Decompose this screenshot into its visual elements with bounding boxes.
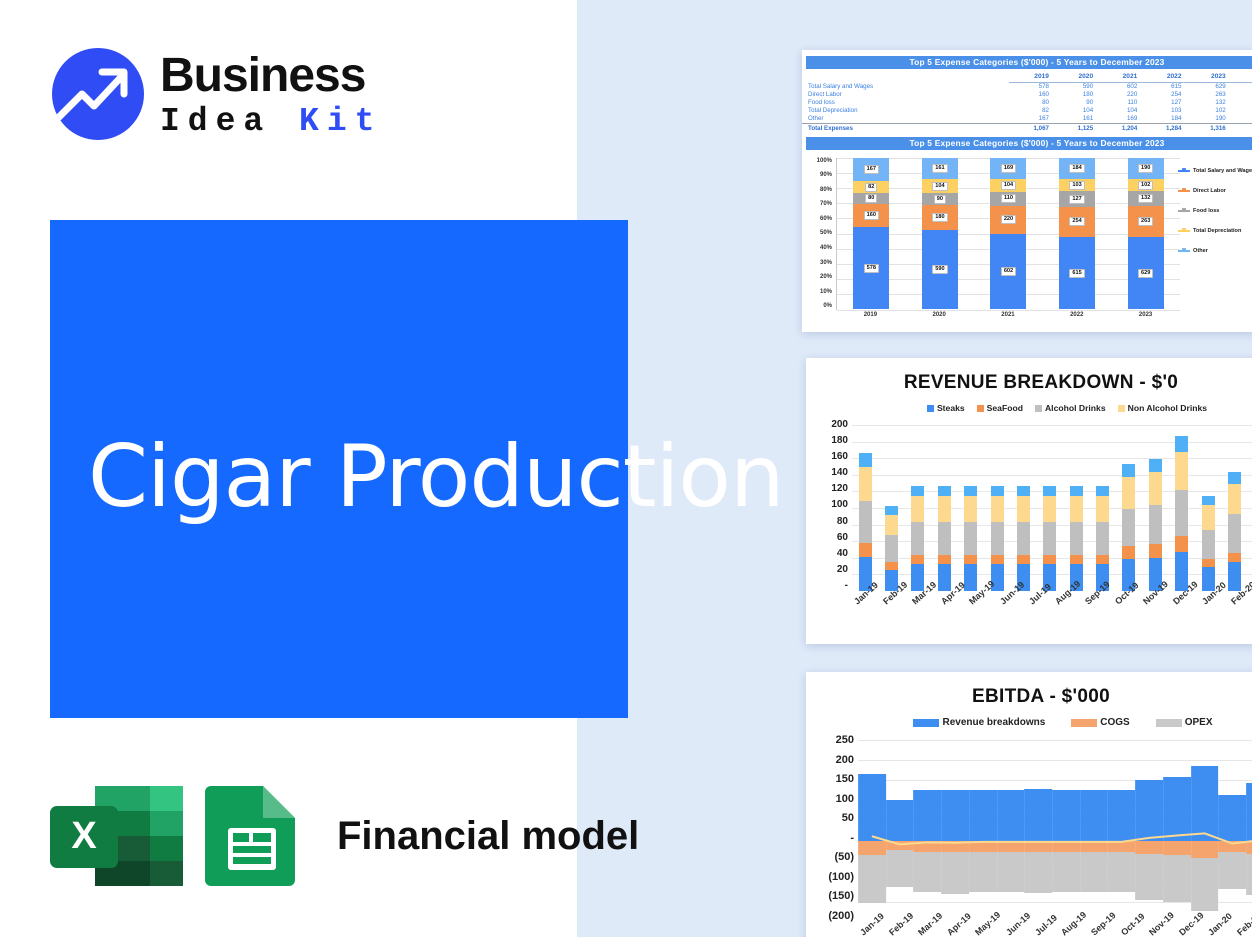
legend-label: Food loss [1193,208,1219,214]
percent-stacked-chart: 100%90%80%70%60%50%40%30%20%10%0% 167828… [802,154,1252,329]
bar-segment [938,522,951,554]
brand-line-2: Idea Kit [160,105,382,138]
bar-segment: 629 [1128,237,1164,310]
bar-segment [859,453,872,467]
bar-segment [964,496,977,523]
bar-segment [991,522,1004,554]
y-tick: 180 [806,435,848,446]
brand-logo: Business Idea Kit [52,48,382,140]
y-tick: 40% [806,245,832,251]
bar-segment: 578 [853,227,889,309]
bar-column [878,425,904,591]
bar-segment [1070,496,1083,523]
bar-segment [991,496,1004,523]
bar-value-label: 110 [1001,194,1016,203]
y-tick: 40 [806,548,848,559]
bar-value-label: 263 [1138,217,1153,226]
ebitda-y-axis: 25020015010050-(50)(100)(150)(200) [806,734,854,922]
bar-segment [1017,555,1030,565]
bar-value-label: 104 [932,182,947,191]
bar-column [1037,425,1063,591]
bar-segment [938,486,951,496]
col-head-2023: 2023 [1185,73,1229,83]
legend-item: Other [1178,248,1252,254]
y-tick: (50) [806,851,854,863]
col-head-blank [802,73,1009,83]
revenue-plot-wrap: 20018016014012010080604020- Jan-19Feb-19… [806,419,1252,644]
y-tick: 20 [806,564,848,575]
revenue-chart-title: REVENUE BREAKDOWN - $'0 [806,372,1252,394]
col-head-2019: 2019 [1009,73,1053,83]
microsoft-excel-icon: X [50,786,183,886]
bar-segment: 132 [1128,191,1164,206]
stacked-bar: 169104110220602 [990,158,1026,310]
bar-column [852,425,878,591]
brand-kit: Kit [299,103,382,140]
bar-segment [1070,555,1083,565]
bar-segment [1228,514,1241,553]
bar-segment [859,467,872,501]
bar-segment: 102 [1128,179,1164,191]
legend-label: Non Alcohol Drinks [1128,403,1207,413]
bar-segment [1202,530,1215,559]
legend-item: SeaFood [977,403,1023,413]
bar-segment [1149,505,1162,544]
revenue-plot [852,425,1252,591]
bar-segment [1096,496,1109,523]
bar-segment [1096,486,1109,496]
legend-item: Total Salary and Wages [1178,168,1252,174]
bar-segment: 263 [1128,206,1164,236]
bar-segment: 110 [990,192,1026,206]
table-row: Direct Labor160180220254263 [802,91,1252,99]
bar-segment: 615 [1059,237,1095,310]
bar-segment [885,515,898,536]
x-tick: 2019 [852,312,888,324]
bar-segment [1043,522,1056,554]
brand-idea: Idea [160,103,299,140]
bar-segment [1122,546,1135,559]
bar-segment [1043,496,1056,523]
y-tick: 80 [806,516,848,527]
table-total-row: Total Expenses1,0671,1251,2041,2841,316 [802,123,1252,132]
x-tick: 2022 [1059,312,1095,324]
bar-segment [1202,505,1215,530]
x-tick: 2023 [1128,312,1164,324]
bar-segment [885,562,898,570]
legend-label: Total Depreciation [1193,228,1241,234]
bar-segment [1149,544,1162,558]
stacked-bar: 190102132263629 [1128,158,1164,310]
bar-segment [1149,459,1162,471]
bar-segment: 169 [990,158,1026,179]
bar-value-label: 602 [1001,267,1016,276]
bar-segment [991,486,1004,496]
footer-row: X Financial model [50,786,639,886]
percent-chart-plot: 1678280160578161104901805901691041102206… [836,158,1180,310]
ebitda-x-axis: Jan-19Feb-19Mar-19Apr-19May-19Jun-19Jul-… [858,930,1252,937]
bar-segment [1175,490,1188,536]
bar-segment: 161 [922,158,958,180]
bar-column [1169,425,1195,591]
table-row: Total Depreciation82104104103102 [802,107,1252,115]
legend-swatch [1035,405,1042,412]
bar-segment [938,564,951,591]
bar-segment: 602 [990,234,1026,310]
percent-chart-x-axis: 20192020202120222023 [836,312,1180,324]
expenses-table: 2019 2020 2021 2022 2023 Total Salary an… [802,73,1252,132]
bar-column [905,425,931,591]
legend-swatch [1178,190,1190,192]
bar-column [1248,425,1252,591]
legend-item: Food loss [1178,208,1252,214]
x-tick: 2021 [990,312,1026,324]
legend-label: Alcohol Drinks [1045,403,1106,413]
bar-segment [1175,436,1188,452]
legend-label: Other [1193,248,1208,254]
bar-segment [859,501,872,543]
bar-segment: 160 [853,204,889,227]
col-head-overflow [1230,73,1252,83]
legend-label: COGS [1100,717,1129,728]
bar-segment [859,543,872,557]
bar-column [1010,425,1036,591]
y-tick: 140 [806,467,848,478]
bar-segment: 90 [922,193,958,205]
legend-item: OPEX [1156,717,1213,728]
legend-swatch [1178,170,1190,172]
bar-value-label: 80 [865,194,877,203]
ebitda-plot-wrap: 25020015010050-(50)(100)(150)(200) Jan-1… [806,734,1252,937]
percent-chart-bars: 1678280160578161104901805901691041102206… [837,158,1180,310]
bar-segment: 190 [1128,158,1164,180]
bar-segment: 127 [1059,191,1095,206]
legend-item: Steaks [927,403,965,413]
bar-segment [1202,559,1215,567]
bar-segment [964,486,977,496]
bar-value-label: 590 [932,265,947,274]
col-head-2022: 2022 [1141,73,1185,83]
footer-label: Financial model [337,814,639,859]
bar-segment [1122,509,1135,546]
y-tick: 60 [806,532,848,543]
y-tick: 10% [806,289,832,295]
revenue-x-axis: Jan-19Feb-19Mar-19Apr-19May-19Jun-19Jul-… [852,599,1252,609]
bar-value-label: 184 [1069,164,1084,173]
bar-value-label: 160 [864,211,879,220]
bar-column [1195,425,1221,591]
google-sheets-icon [205,786,301,886]
bar-segment: 82 [853,181,889,193]
bar-segment [1043,486,1056,496]
y-tick: - [806,580,848,591]
bar-segment [991,555,1004,565]
bar-segment [1228,553,1241,562]
legend-item: Direct Labor [1178,188,1252,194]
col-head-2021: 2021 [1097,73,1141,83]
percent-chart-legend: Total Salary and WagesDirect LaborFood l… [1178,168,1252,254]
table-row: Total Salary and Wages578590602615629 [802,83,1252,91]
bar-segment [1228,562,1241,591]
bar-segment [1122,464,1135,477]
bar-segment: 103 [1059,179,1095,191]
bar-segment: 590 [922,230,958,310]
brand-line-1: Business [160,52,382,100]
bar-value-label: 169 [1001,164,1016,173]
bar-segment [964,555,977,565]
legend-swatch [1178,210,1190,212]
bar-value-label: 90 [934,195,946,204]
col-head-2020: 2020 [1053,73,1097,83]
bar-column [1116,425,1142,591]
bar-segment: 167 [853,158,889,182]
bar-value-label: 161 [932,164,947,173]
bar-segment [1175,536,1188,552]
bar-segment [1122,477,1135,509]
y-tick: 30% [806,260,832,266]
bar-segment [1043,555,1056,565]
legend-swatch [913,719,939,727]
bar-segment [1202,496,1215,505]
y-tick: (100) [806,871,854,883]
bar-segment: 254 [1059,207,1095,237]
bar-segment [1070,522,1083,554]
revenue-y-axis: 20018016014012010080604020- [806,419,848,591]
bar-segment [911,522,924,554]
y-tick: 0% [806,303,832,309]
legend-item: Revenue breakdowns [913,717,1045,728]
bar-segment [964,522,977,554]
legend-item: Total Depreciation [1178,228,1252,234]
card-ebitda: EBITDA - $'000 Revenue breakdownsCOGSOPE… [806,672,1252,937]
bar-segment [911,555,924,565]
bar-segment [1175,452,1188,490]
table-header-row: 2019 2020 2021 2022 2023 [802,73,1252,83]
y-tick: 250 [806,734,854,746]
y-tick: 100% [806,158,832,164]
bar-segment [1228,484,1241,514]
bar-segment: 220 [990,206,1026,234]
bar-segment [1070,486,1083,496]
bar-column [931,425,957,591]
bar-segment [1017,486,1030,496]
bar-value-label: 615 [1069,269,1084,278]
percent-chart-y-axis: 100%90%80%70%60%50%40%30%20%10%0% [806,158,832,310]
bar-segment: 104 [922,179,958,193]
bar-value-label: 127 [1069,195,1084,204]
legend-swatch [927,405,934,412]
legend-item: COGS [1071,717,1129,728]
bar-value-label: 132 [1138,194,1153,203]
card-expense-categories: Top 5 Expense Categories ($'000) - 5 Yea… [802,50,1252,332]
bar-column [1142,425,1168,591]
bar-segment [938,555,951,565]
y-tick: 150 [806,773,854,785]
bar-segment [1017,496,1030,523]
ebitda-plot [858,740,1252,922]
legend-label: Revenue breakdowns [942,717,1045,728]
revenue-bars [852,425,1252,591]
bar-segment: 80 [853,193,889,204]
bar-value-label: 220 [1001,215,1016,224]
bar-column [958,425,984,591]
card-revenue-breakdown: REVENUE BREAKDOWN - $'0 SteaksSeaFoodAlc… [806,358,1252,644]
legend-swatch [1178,230,1190,232]
bar-value-label: 180 [932,213,947,222]
y-tick: 100 [806,499,848,510]
table-row: Other167161169184190 [802,115,1252,124]
y-tick: - [806,832,854,844]
bar-value-label: 103 [1069,181,1084,190]
bar-segment [1149,472,1162,505]
y-tick: (200) [806,910,854,922]
y-tick: 70% [806,201,832,207]
y-tick: 50% [806,230,832,236]
bar-segment [911,496,924,523]
bar-segment [885,535,898,562]
bar-segment: 180 [922,205,958,229]
ebitda-chart-legend: Revenue breakdownsCOGSOPEX [806,717,1252,728]
svg-text:X: X [71,815,97,857]
bar-value-label: 254 [1069,217,1084,226]
legend-label: Total Salary and Wages [1193,168,1252,174]
legend-swatch [1156,719,1182,727]
legend-label: OPEX [1185,717,1213,728]
bar-value-label: 190 [1138,164,1153,173]
bar-segment [911,486,924,496]
y-tick: 200 [806,754,854,766]
legend-label: SeaFood [987,403,1023,413]
stacked-bar: 16110490180590 [922,158,958,310]
legend-label: Steaks [937,403,965,413]
y-tick: 60% [806,216,832,222]
table-row: Food loss8090110127132 [802,99,1252,107]
y-tick: 120 [806,483,848,494]
y-tick: (150) [806,890,854,902]
bar-segment [885,506,898,514]
bar-value-label: 578 [864,264,879,273]
bar-segment: 184 [1059,158,1095,180]
stacked-bar: 1678280160578 [853,158,889,310]
bar-value-label: 102 [1138,181,1153,190]
bar-segment [1228,472,1241,484]
bar-segment [1017,522,1030,554]
growth-arrow-icon [52,48,144,140]
expenses-chart-banner: Top 5 Expense Categories ($'000) - 5 Yea… [806,137,1252,150]
legend-item: Alcohol Drinks [1035,403,1106,413]
bar-column [1221,425,1247,591]
ebitda-trend-line [858,740,1252,922]
y-tick: 50 [806,812,854,824]
bar-column [1063,425,1089,591]
revenue-chart-legend: SteaksSeaFoodAlcohol DrinksNon Alcohol D… [806,403,1252,413]
bar-segment [938,496,951,523]
bar-segment [1096,555,1109,565]
y-tick: 160 [806,451,848,462]
bar-value-label: 629 [1138,269,1153,278]
stacked-bar: 184103127254615 [1059,158,1095,310]
legend-swatch [1071,719,1097,727]
bar-value-label: 104 [1001,181,1016,190]
y-tick: 100 [806,793,854,805]
y-tick: 20% [806,274,832,280]
legend-label: Direct Labor [1193,188,1226,194]
bar-segment: 104 [990,179,1026,192]
y-tick: 80% [806,187,832,193]
page-title: Cigar Production [88,427,783,527]
bar-column [984,425,1010,591]
x-tick: 2020 [921,312,957,324]
expenses-table-banner: Top 5 Expense Categories ($'000) - 5 Yea… [806,56,1252,69]
bar-value-label: 82 [865,183,877,192]
legend-swatch [1118,405,1125,412]
y-tick: 200 [806,419,848,430]
y-tick: 90% [806,172,832,178]
bar-column [1089,425,1115,591]
legend-swatch [977,405,984,412]
ebitda-chart-title: EBITDA - $'000 [806,686,1252,708]
bar-segment [1096,522,1109,554]
legend-swatch [1178,250,1190,252]
legend-item: Non Alcohol Drinks [1118,403,1207,413]
bar-value-label: 167 [864,165,879,174]
